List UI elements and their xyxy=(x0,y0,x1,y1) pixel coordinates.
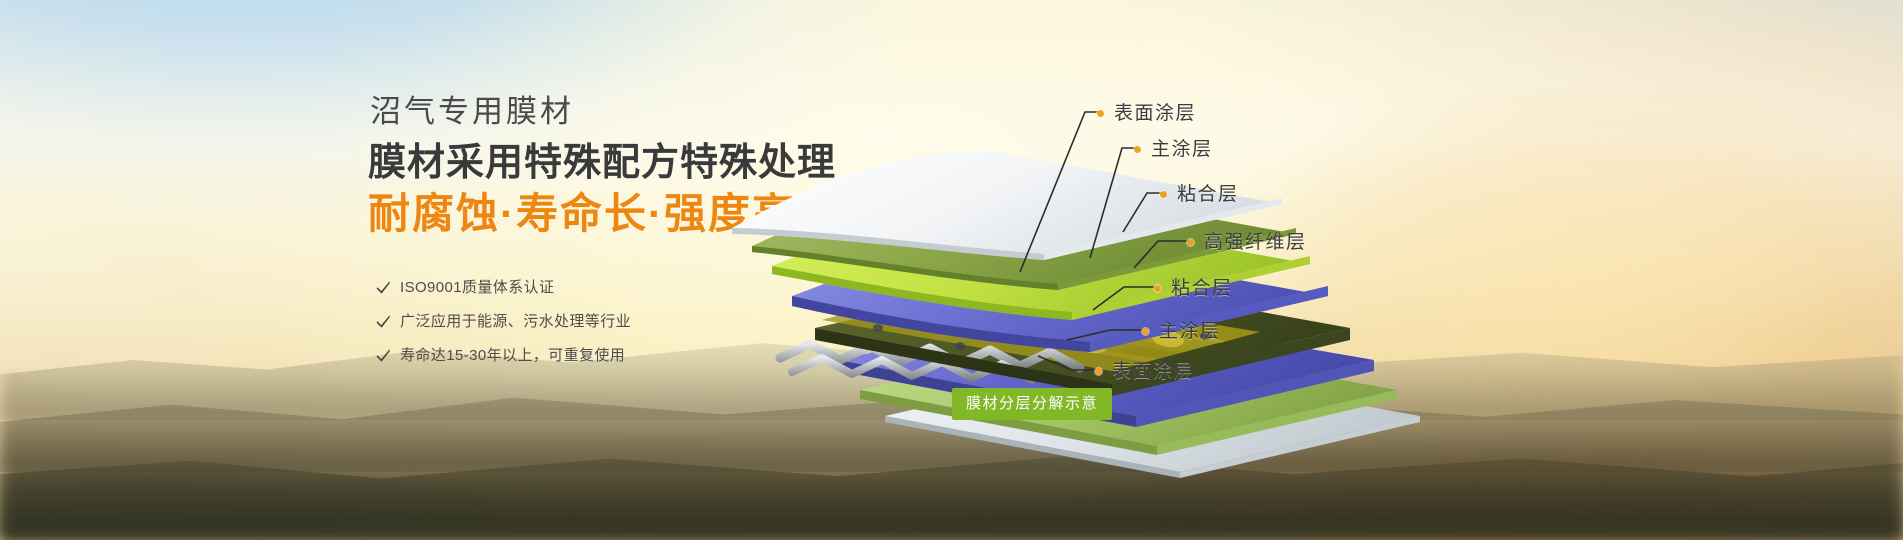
diagram-caption-badge: 膜材分层分解示意 xyxy=(952,388,1112,420)
check-mark-icon xyxy=(376,348,391,363)
diagram-caption-label: 膜材分层分解示意 xyxy=(966,396,1098,411)
list-item-label: 广泛应用于能源、污水处理等行业 xyxy=(400,314,631,329)
check-mark-icon xyxy=(376,280,391,295)
list-item-label: 寿命达15-30年以上，可重复使用 xyxy=(400,348,625,363)
check-mark-icon xyxy=(376,314,391,329)
list-item-label: ISO9001质量体系认证 xyxy=(400,280,554,295)
banner-stage: 沼气专用膜材 膜材采用特殊配方特殊处理 耐腐蚀·寿命长·强度高 ISO9001质… xyxy=(0,0,1903,540)
